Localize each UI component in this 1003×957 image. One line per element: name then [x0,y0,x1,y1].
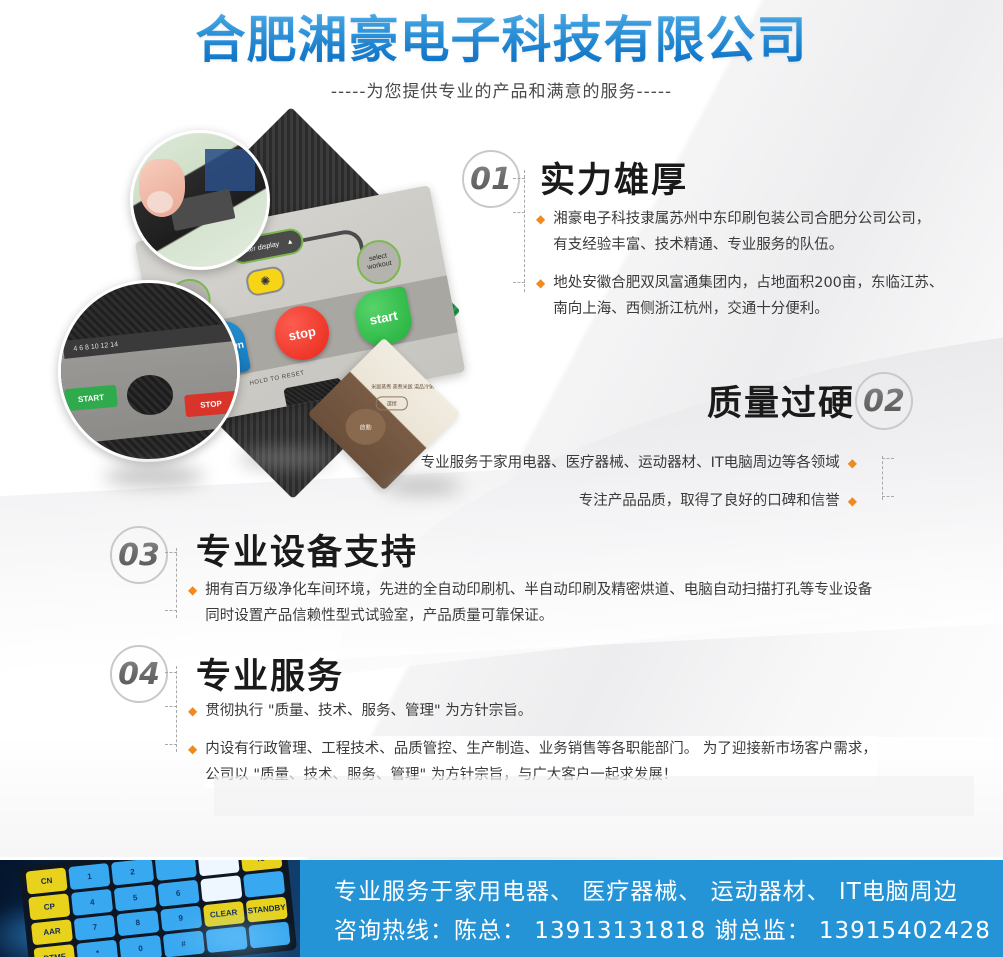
keypad-key: IC [240,860,282,872]
connector-tick [165,672,177,673]
keypad-key: AAR [31,919,73,946]
section-bullets-01: ◆ 湘豪电子科技隶属苏州中东印刷包装公司合肥分公司公司， 有支经验丰富、技术精通… [536,206,996,334]
bullet-item: ◆ 湘豪电子科技隶属苏州中东印刷包装公司合肥分公司公司， 有支经验丰富、技术精通… [536,206,996,258]
connector-tick [882,458,894,459]
photo-glow-right [170,908,300,957]
membrane-peel-inset [130,130,270,270]
fan-icon: ✺ [244,265,286,298]
connector-tick [165,552,177,553]
section-title-04: 专业服务 [196,648,344,699]
diamond-bullet-icon: ◆ [848,488,857,514]
dial-stop-button: STOP [184,391,238,417]
company-slogan: -----为您提供专业的产品和满意的服务----- [0,77,1003,102]
dashed-connector-01 [524,170,525,292]
keypad-key: 2 [111,860,153,885]
connector-tick [165,706,177,707]
connector-tick [165,744,177,745]
keypad-key [200,875,242,902]
select-pill-button: 選擇 [376,396,408,410]
up-arrow-icon: ▲ [286,238,294,246]
dial-knob [127,375,173,415]
diamond-bullet-icon: ◆ [848,450,857,476]
panel-wire-trace [297,227,367,278]
section-bullets-02: 专业服务于家用电器、医疗器械、运动器材、IT电脑周边等各领域 ◆ 专注产品品质，… [237,450,857,526]
keypad-key: CN [25,867,67,894]
bullet-text: 地处安徽合肥双凤富通集团内，占地面积200亩，东临江苏、 南向上海、西侧浙江杭州… [553,270,943,322]
dashed-connector-03 [176,548,177,618]
keypad-key: 7 [74,914,116,941]
connector-tick [165,610,177,611]
bullet-item: ◆ 地处安徽合肥双凤富通集团内，占地面积200亩，东临江苏、 南向上海、西侧浙江… [536,270,996,322]
keypad-key [154,860,196,881]
bullet-item: ◆ 拥有百万级净化车间环境，先进的全自动印刷机、半自动印刷及精密烘道、电脑自动扫… [188,577,988,629]
backlit-keypad-photo: CN 1 2 IC CP 4 5 6 AAR 7 8 9 CLEAR STAND… [0,860,300,957]
rice-cooker-icon-row: 米飯蒸煮 蒸煮米飯 湯品冷粥 [371,383,451,390]
keypad-key: * [76,940,118,957]
dashed-connector-02 [882,456,883,500]
highlight-band [214,776,974,816]
page-footer: CN 1 2 IC CP 4 5 6 AAR 7 8 9 CLEAR STAND… [0,860,1003,957]
dial-panel-inset: 4 6 8 10 12 14 START STOP [58,280,240,462]
diamond-bullet-icon: ◆ [188,577,197,629]
blue-overlay-patch [205,149,255,191]
fingernail [147,191,173,213]
section-badge-02: 02 [855,372,913,430]
bullet-text: 拥有百万级净化车间环境，先进的全自动印刷机、半自动印刷及精密烘道、电脑自动扫描打… [205,577,872,629]
section-badge-03: 03 [110,526,168,584]
diamond-bullet-icon: ◆ [536,206,545,258]
connector-tick [882,496,894,497]
keypad-key [243,871,285,898]
footer-services-line: 专业服务于家用电器、 医疗器械、 运动器材、 IT电脑周边 [334,872,1003,906]
keypad-key: 0 [119,935,161,957]
section-title-01: 实力雄厚 [540,152,688,203]
connector-tick [513,212,525,213]
bullet-text: 贯彻执行 "质量、技术、服务、管理" 为方针宗旨。 [205,698,532,724]
bullet-item: 专业服务于家用电器、医疗器械、运动器材、IT电脑周边等各领域 ◆ [237,450,857,476]
connector-tick [513,178,525,179]
keypad-key: CP [28,893,70,920]
bullet-text: 专注产品品质，取得了良好的口碑和信誉 [579,488,840,514]
connector-tick [513,282,525,283]
start-knob-button: 啟動 [346,409,386,445]
section-badge-04: 04 [110,645,168,703]
keypad-key [197,860,239,876]
keypad-key: 8 [117,910,159,937]
keypad-key: 1 [68,863,110,890]
promo-page: 合肥湘豪电子科技有限公司 -----为您提供专业的产品和满意的服务----- e… [0,0,1003,957]
section-title-02: 质量过硬 [707,375,855,426]
section-title-03: 专业设备支持 [196,524,418,575]
keypad-key: 4 [71,889,113,916]
keypad-key: DTMF [34,944,76,957]
page-header: 合肥湘豪电子科技有限公司 -----为您提供专业的产品和满意的服务----- [0,0,1003,118]
bullet-text: 专业服务于家用电器、医疗器械、运动器材、IT电脑周边等各领域 [421,450,840,476]
section-bullets-03: ◆ 拥有百万级净化车间环境，先进的全自动印刷机、半自动印刷及精密烘道、电脑自动扫… [188,577,988,641]
diamond-bullet-icon: ◆ [536,270,545,322]
section-badge-01: 01 [462,150,520,208]
diamond-bullet-icon: ◆ [188,736,197,788]
bullet-item: ◆ 贯彻执行 "质量、技术、服务、管理" 为方针宗旨。 [188,698,988,724]
company-title: 合肥湘豪电子科技有限公司 [0,0,1003,67]
keypad-key: 6 [157,880,199,907]
hold-to-reset-label: HOLD TO RESET [249,370,305,387]
dial-start-button: START [64,385,118,411]
shadow-blob [104,466,204,486]
dashed-connector-04 [176,666,177,752]
keypad-key: 5 [114,884,156,911]
bullet-text: 湘豪电子科技隶属苏州中东印刷包装公司合肥分公司公司， 有支经验丰富、技术精通、专… [553,206,930,258]
bullet-item: 专注产品品质，取得了良好的口碑和信誉 ◆ [237,488,857,514]
footer-hotline-line: 咨询热线：陈总： 13913131818 谢总监： 13915402428 [334,911,1003,945]
diamond-bullet-icon: ◆ [188,698,197,724]
footer-contact: 专业服务于家用电器、 医疗器械、 运动器材、 IT电脑周边 咨询热线：陈总： 1… [300,860,1003,957]
